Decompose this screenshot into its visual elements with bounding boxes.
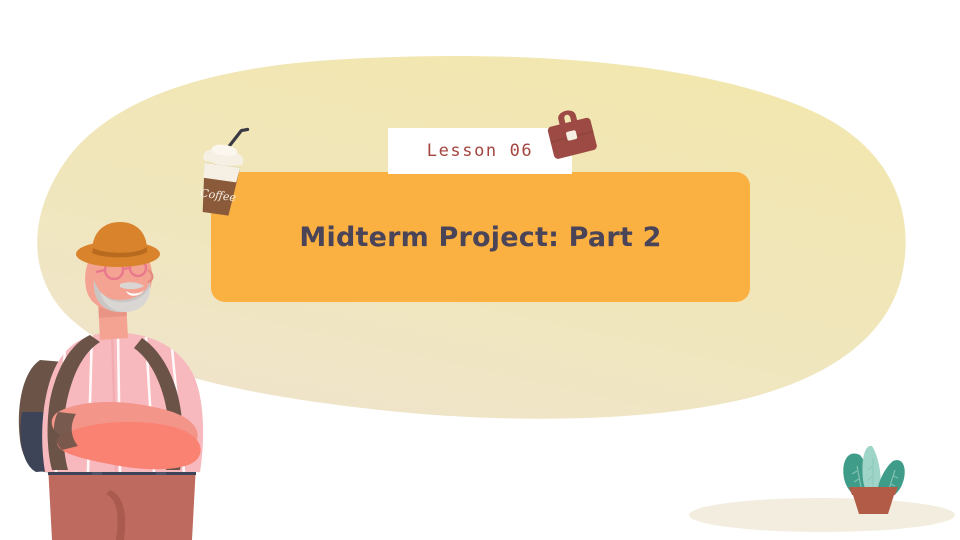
character-hat xyxy=(76,222,160,267)
slide-canvas: Coffee Lesson 06 Midterm Project: Part 2 xyxy=(0,0,960,540)
character-illustration xyxy=(0,0,960,540)
